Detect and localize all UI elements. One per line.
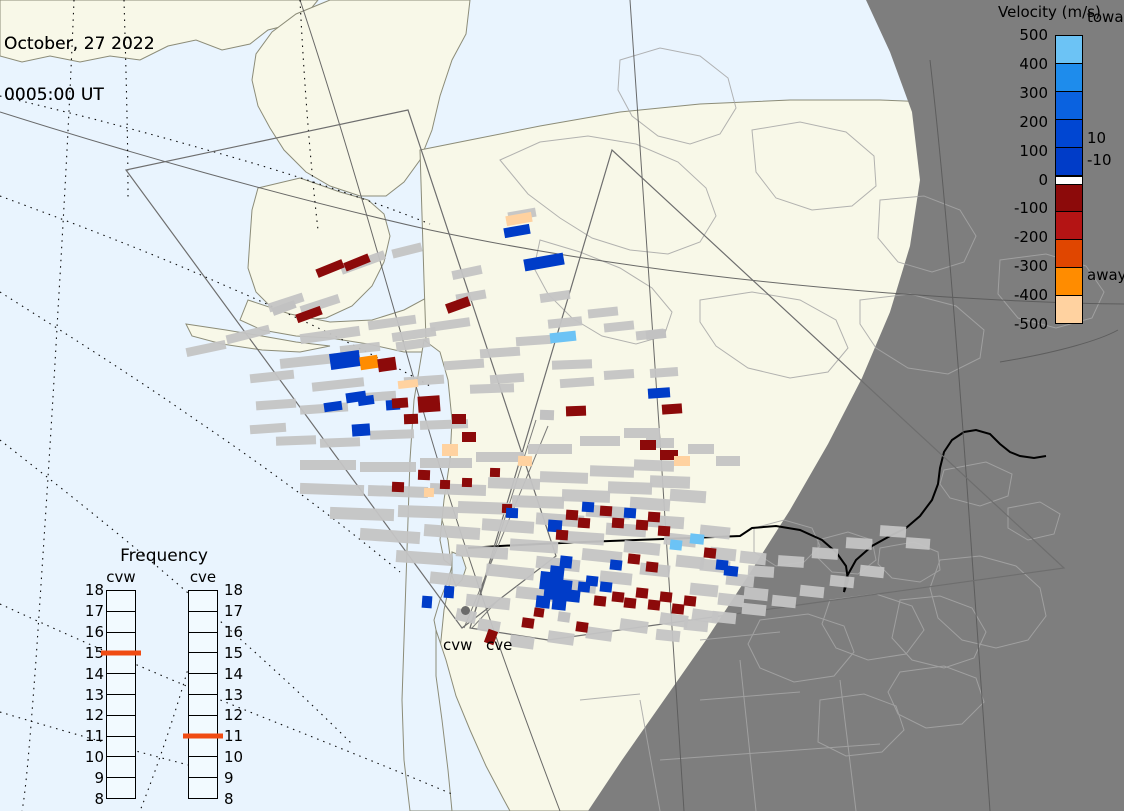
frequency-cell bbox=[107, 695, 135, 716]
scatter-cell bbox=[556, 530, 569, 541]
scatter-cell bbox=[662, 403, 683, 414]
colorbar-tick-400: 400 bbox=[1019, 55, 1048, 73]
frequency-cell bbox=[107, 716, 135, 737]
colorbar-tick-100: 100 bbox=[1019, 142, 1048, 160]
frequency-tick-15: 15 bbox=[220, 644, 254, 662]
colorbar-tick-200: 200 bbox=[1019, 113, 1048, 131]
ground-scatter-cell bbox=[846, 537, 873, 550]
ground-scatter-cell bbox=[624, 428, 660, 438]
scatter-cell bbox=[586, 575, 599, 586]
scatter-cell bbox=[690, 533, 705, 544]
colorbar-negative-threshold-label: -10 bbox=[1087, 151, 1112, 169]
ground-scatter-cell bbox=[430, 483, 486, 496]
ground-scatter-cell bbox=[470, 383, 514, 394]
frequency-tick-12: 12 bbox=[220, 706, 254, 724]
frequency-tick-12: 12 bbox=[74, 706, 104, 724]
colorbar-segment-toward-4 bbox=[1056, 148, 1082, 176]
frequency-cell bbox=[189, 695, 217, 716]
ground-scatter-cell bbox=[562, 489, 610, 503]
scatter-cell bbox=[578, 518, 591, 529]
colorbar-strip bbox=[1055, 35, 1083, 324]
frequency-cell bbox=[189, 737, 217, 758]
frequency-tick-16: 16 bbox=[74, 623, 104, 641]
scatter-cell bbox=[724, 565, 739, 576]
scatter-cell bbox=[566, 510, 579, 521]
scatter-cell bbox=[624, 597, 637, 608]
colorbar-toward-label: toward bbox=[1087, 8, 1124, 26]
scatter-cell bbox=[612, 591, 625, 602]
scatter-cell bbox=[444, 586, 455, 599]
colorbar-tick-0: 0 bbox=[1038, 171, 1048, 189]
frequency-tick-18: 18 bbox=[220, 581, 254, 599]
frequency-tick-17: 17 bbox=[74, 602, 104, 620]
radar-velocity-map: October, 27 2022 0005:00 UT cvw cve Velo… bbox=[0, 0, 1124, 811]
frequency-cell bbox=[189, 674, 217, 695]
ground-scatter-cell bbox=[300, 483, 364, 496]
frequency-panel-title: Frequency bbox=[84, 546, 244, 566]
scatter-cell bbox=[442, 444, 458, 456]
scatter-cell bbox=[600, 506, 613, 517]
scatter-cell bbox=[566, 406, 586, 417]
frequency-tick-17: 17 bbox=[220, 602, 254, 620]
scatter-cell bbox=[636, 520, 649, 531]
scatter-cell bbox=[462, 478, 472, 487]
scatter-cell bbox=[533, 607, 544, 617]
scatter-cell bbox=[660, 591, 673, 602]
ground-scatter-cell bbox=[330, 507, 394, 521]
scatter-cell bbox=[452, 414, 466, 424]
colorbar-segment-away-3 bbox=[1056, 268, 1082, 296]
colorbar-ground-scatter-band bbox=[1056, 176, 1082, 185]
frequency-cell bbox=[107, 653, 135, 674]
ground-scatter-cell bbox=[552, 359, 592, 369]
scatter-cell bbox=[582, 502, 595, 513]
scatter-cell bbox=[575, 621, 588, 633]
ground-scatter-cell bbox=[360, 462, 416, 472]
frequency-tick-11: 11 bbox=[74, 727, 104, 745]
frequency-cell bbox=[189, 591, 217, 612]
frequency-labels-cve: 18171615141312111098 bbox=[220, 590, 250, 799]
frequency-cell bbox=[189, 633, 217, 654]
frequency-tick-15: 15 bbox=[74, 644, 104, 662]
ground-scatter-cell bbox=[420, 458, 472, 468]
scatter-cell bbox=[600, 581, 613, 592]
colorbar-segment-toward-2 bbox=[1056, 92, 1082, 120]
scatter-cell bbox=[704, 547, 717, 558]
ground-scatter-cell bbox=[688, 444, 714, 454]
velocity-colorbar-panel: Velocity (m/s) 5004003002001000-100-200-… bbox=[990, 0, 1124, 340]
scatter-cell bbox=[684, 595, 697, 606]
frequency-labels-cvw: 18171615141312111098 bbox=[74, 590, 104, 799]
colorbar-tick-neg500: -500 bbox=[1014, 315, 1048, 333]
timestamp-title: October, 27 2022 0005:00 UT bbox=[4, 2, 155, 138]
scatter-cell bbox=[557, 611, 570, 623]
frequency-bar-cve bbox=[188, 590, 218, 799]
scatter-cell bbox=[594, 595, 607, 606]
frequency-tick-14: 14 bbox=[74, 665, 104, 683]
frequency-cell bbox=[107, 778, 135, 798]
colorbar-segment-toward-1 bbox=[1056, 64, 1082, 92]
scatter-cell bbox=[670, 539, 683, 550]
radar-site-marker bbox=[461, 606, 470, 615]
ground-scatter-cell bbox=[670, 489, 707, 503]
scatter-cell bbox=[658, 526, 671, 537]
frequency-tick-14: 14 bbox=[220, 665, 254, 683]
ground-scatter-cell bbox=[778, 555, 805, 568]
scatter-cell bbox=[648, 387, 671, 399]
scatter-cell bbox=[404, 414, 418, 424]
scatter-cell bbox=[392, 397, 409, 408]
colorbar-tick-300: 300 bbox=[1019, 84, 1048, 102]
scatter-cell bbox=[648, 599, 661, 610]
scatter-cell bbox=[648, 512, 661, 523]
scatter-cell bbox=[612, 518, 625, 529]
scatter-cell bbox=[636, 587, 649, 598]
scatter-cell bbox=[674, 456, 690, 466]
frequency-panel: Frequency cvw 18171615141312111098 cve 1… bbox=[84, 546, 244, 802]
colorbar-segment-away-0 bbox=[1056, 185, 1082, 213]
ground-scatter-cell bbox=[634, 459, 674, 471]
scatter-cell bbox=[359, 355, 379, 370]
scatter-cell bbox=[418, 470, 430, 480]
colorbar-tick-500: 500 bbox=[1019, 26, 1048, 44]
ground-scatter-cell bbox=[512, 495, 564, 509]
scatter-cell bbox=[610, 559, 623, 570]
colorbar-segment-toward-0 bbox=[1056, 36, 1082, 64]
frequency-cell bbox=[107, 591, 135, 612]
title-time: 0005:00 UT bbox=[4, 87, 155, 104]
colorbar-away-label: away bbox=[1087, 266, 1124, 284]
frequency-tick-11: 11 bbox=[220, 727, 254, 745]
scatter-cell bbox=[535, 595, 550, 608]
colorbar-tick-neg200: -200 bbox=[1014, 228, 1048, 246]
ground-scatter-cell bbox=[320, 437, 360, 447]
frequency-tick-8: 8 bbox=[220, 790, 254, 808]
colorbar-tick-neg300: -300 bbox=[1014, 257, 1048, 275]
frequency-tick-8: 8 bbox=[74, 790, 104, 808]
scatter-cell bbox=[352, 423, 371, 436]
ground-scatter-cell bbox=[812, 547, 839, 560]
ground-scatter-cell bbox=[488, 477, 540, 490]
scatter-cell bbox=[392, 482, 404, 492]
frequency-cell bbox=[189, 778, 217, 798]
frequency-cell bbox=[107, 674, 135, 695]
ground-scatter-cell bbox=[743, 587, 768, 601]
ground-scatter-cell bbox=[880, 525, 907, 538]
ground-scatter-cell bbox=[590, 465, 634, 478]
ground-scatter-cell bbox=[580, 436, 620, 446]
ground-scatter-cell bbox=[398, 505, 458, 519]
station-label-cve: cve bbox=[486, 636, 512, 654]
colorbar-tick-neg100: -100 bbox=[1014, 199, 1048, 217]
scatter-cell bbox=[624, 508, 637, 519]
frequency-tick-18: 18 bbox=[74, 581, 104, 599]
ground-scatter-cell bbox=[650, 475, 690, 488]
colorbar-segment-away-2 bbox=[1056, 240, 1082, 268]
ground-scatter-cell bbox=[608, 481, 652, 495]
scatter-cell bbox=[424, 488, 434, 497]
frequency-cell bbox=[107, 612, 135, 633]
frequency-cell bbox=[107, 757, 135, 778]
title-date: October, 27 2022 bbox=[4, 36, 155, 53]
ground-scatter-cell bbox=[300, 460, 356, 470]
frequency-cell bbox=[189, 653, 217, 674]
scatter-cell bbox=[377, 357, 397, 372]
frequency-tick-13: 13 bbox=[74, 686, 104, 704]
scatter-cell bbox=[628, 553, 641, 564]
scatter-cell bbox=[462, 432, 476, 442]
frequency-tick-10: 10 bbox=[220, 748, 254, 766]
ground-scatter-cell bbox=[540, 471, 588, 484]
scatter-cell bbox=[518, 456, 532, 466]
scatter-cell bbox=[417, 395, 440, 412]
ground-scatter-cell bbox=[476, 452, 524, 462]
colorbar-segment-toward-3 bbox=[1056, 120, 1082, 148]
ground-scatter-cell bbox=[528, 444, 572, 454]
frequency-tick-16: 16 bbox=[220, 623, 254, 641]
station-label-cvw: cvw bbox=[443, 636, 472, 654]
colorbar-tick-neg400: -400 bbox=[1014, 286, 1048, 304]
scatter-cell bbox=[521, 617, 534, 629]
frequency-marker-cve bbox=[183, 734, 223, 739]
ground-scatter-cell bbox=[906, 537, 931, 550]
frequency-cell bbox=[189, 757, 217, 778]
frequency-cell bbox=[189, 612, 217, 633]
scatter-cell bbox=[490, 468, 500, 477]
colorbar-tick-labels: 5004003002001000-100-200-300-400-500 bbox=[990, 35, 1052, 324]
scatter-cell bbox=[540, 410, 554, 420]
scatter-cell bbox=[640, 440, 656, 450]
frequency-tick-10: 10 bbox=[74, 748, 104, 766]
frequency-marker-cvw bbox=[101, 650, 141, 655]
colorbar-segment-away-1 bbox=[1056, 212, 1082, 240]
scatter-cell bbox=[440, 480, 450, 489]
scatter-cell bbox=[422, 596, 433, 609]
scatter-cell bbox=[506, 508, 518, 518]
ground-scatter-cell bbox=[716, 456, 740, 466]
frequency-cell bbox=[107, 737, 135, 758]
frequency-tick-9: 9 bbox=[220, 769, 254, 787]
colorbar-segment-away-4 bbox=[1056, 296, 1082, 323]
frequency-tick-13: 13 bbox=[220, 686, 254, 704]
ground-scatter-cell bbox=[370, 429, 414, 440]
frequency-bar-cvw bbox=[106, 590, 136, 799]
scatter-cell bbox=[552, 599, 567, 610]
frequency-tick-9: 9 bbox=[74, 769, 104, 787]
ground-scatter-cell bbox=[276, 435, 316, 445]
scatter-cell bbox=[672, 603, 685, 614]
scatter-cell bbox=[646, 561, 659, 572]
colorbar-positive-threshold-label: 10 bbox=[1087, 129, 1106, 147]
